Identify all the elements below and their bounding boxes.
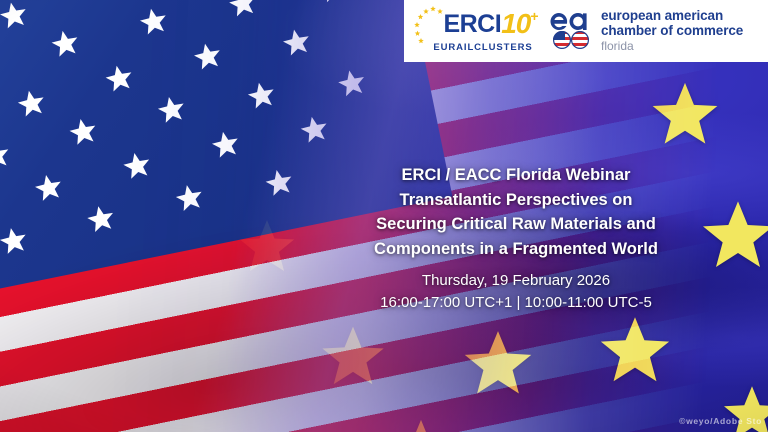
headline-block: ERCI / EACC Florida Webinar Transatlanti… bbox=[330, 163, 702, 314]
erci-wordmark: ERCI bbox=[443, 9, 501, 39]
erci-plus: + bbox=[530, 10, 538, 22]
erci-ten: 10 bbox=[501, 9, 530, 39]
title-line-1: ERCI / EACC Florida Webinar bbox=[330, 163, 702, 188]
event-date: Thursday, 19 February 2026 bbox=[330, 270, 702, 292]
eacc-logo: european american chamber of commerce fl… bbox=[550, 8, 743, 54]
image-credit-watermark: ©weyo/Adobe Sto bbox=[679, 416, 762, 426]
eu-stars-arc-icon bbox=[407, 4, 451, 46]
erci-logo-top: ERCI 10 + bbox=[413, 9, 538, 41]
title-line-4: Components in a Fragmented World bbox=[330, 237, 702, 262]
date-block: Thursday, 19 February 2026 16:00-17:00 U… bbox=[330, 270, 702, 314]
event-time: 16:00-17:00 UTC+1 | 10:00-11:00 UTC-5 bbox=[330, 292, 702, 314]
eacc-line-2: chamber of commerce bbox=[601, 23, 743, 38]
erci-logo: ERCI 10 + EURAILCLUSTERS bbox=[412, 9, 540, 53]
title-line-3: Securing Critical Raw Materials and bbox=[330, 212, 702, 237]
eacc-text-block: european american chamber of commerce fl… bbox=[601, 8, 743, 54]
webinar-poster: ERCI 10 + EURAILCLUSTERS bbox=[0, 0, 768, 432]
eacc-line-3: florida bbox=[601, 39, 743, 54]
title-line-2: Transatlantic Perspectives on bbox=[330, 188, 702, 213]
eacc-monogram-icon bbox=[550, 10, 594, 52]
logo-bar: ERCI 10 + EURAILCLUSTERS bbox=[404, 0, 768, 62]
eacc-line-1: european american bbox=[601, 8, 743, 23]
